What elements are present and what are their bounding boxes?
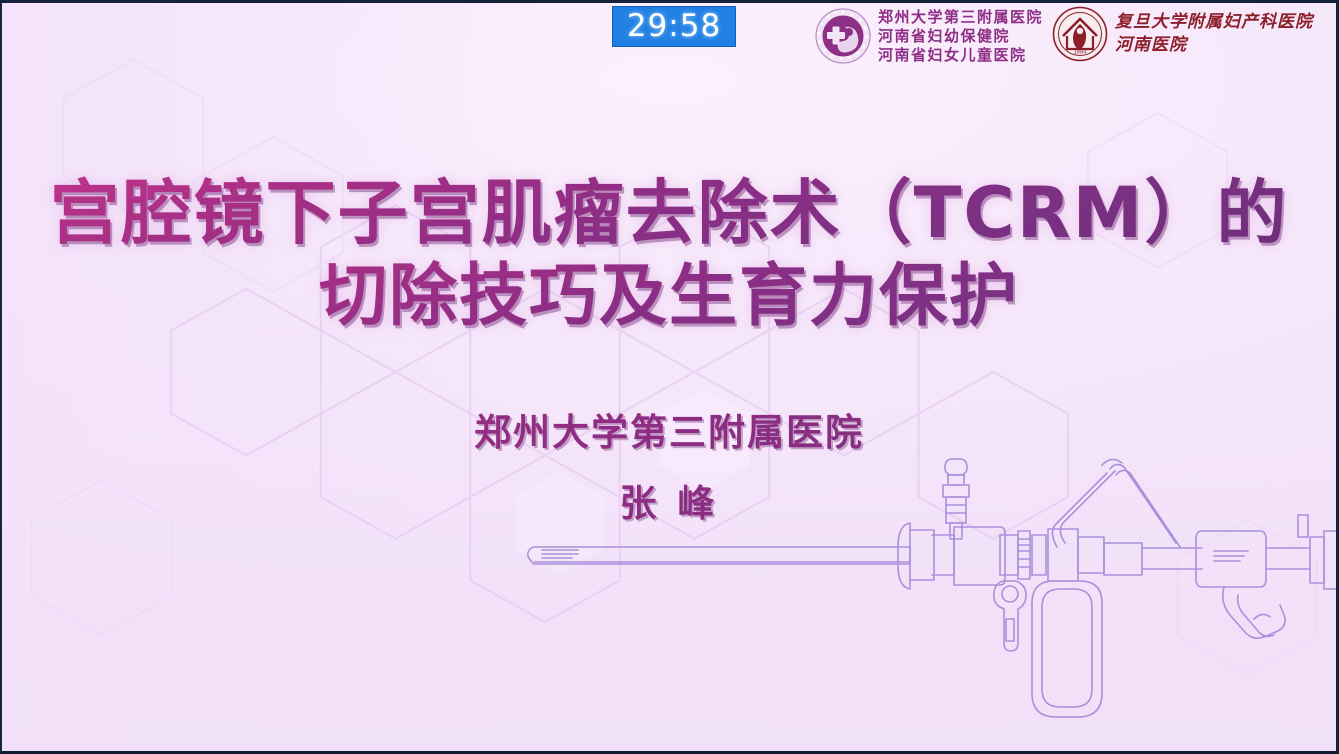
logo-fudan-obgyn-hospital: 1884 复旦大学附属妇产科医院 河南医院 [1051,3,1313,63]
logo-line-1: 郑州大学第三附属医院 [878,8,1043,27]
logo-text-lines-zzu: 郑州大学第三附属医院 河南省妇幼保健院 河南省妇女儿童医院 [878,8,1043,65]
title-line-1: 宫腔镜下子宫肌瘤去除术（TCRM）的 [2,171,1336,255]
logo-zhengzhou-university-third-hospital: 郑州大学第三附属医院 河南省妇幼保健院 河南省妇女儿童医院 [814,3,1043,65]
logo-line-1: 复旦大学附属妇产科医院 [1115,11,1313,34]
logo-text-lines-fudan: 复旦大学附属妇产科医院 河南医院 [1115,11,1313,57]
svg-text:1884: 1884 [1074,50,1087,56]
logo-line-2: 河南医院 [1115,34,1313,57]
countdown-timer[interactable]: 29:58 [612,6,736,47]
presenter-name: 张 峰 [2,480,1336,528]
logo-line-2: 河南省妇幼保健院 [878,27,1043,46]
page-title: 宫腔镜下子宫肌瘤去除术（TCRM）的 切除技巧及生育力保护 [2,171,1336,339]
logo-line-3: 河南省妇女儿童医院 [878,46,1043,65]
fudan-obstetrics-gynecology-hospital-emblem: 1884 [1051,5,1109,63]
hospital-logo-bar: 郑州大学第三附属医院 河南省妇幼保健院 河南省妇女儿童医院 1884 [814,3,1330,81]
countdown-timer-value: 29:58 [627,11,721,42]
presenter-block: 郑州大学第三附属医院 张 峰 [2,408,1336,528]
affiliation-text: 郑州大学第三附属医院 [2,408,1336,458]
zhengzhou-university-third-hospital-emblem [814,7,872,65]
title-line-2: 切除技巧及生育力保护 [2,255,1336,339]
presentation-slide: 29:58 [0,0,1339,754]
